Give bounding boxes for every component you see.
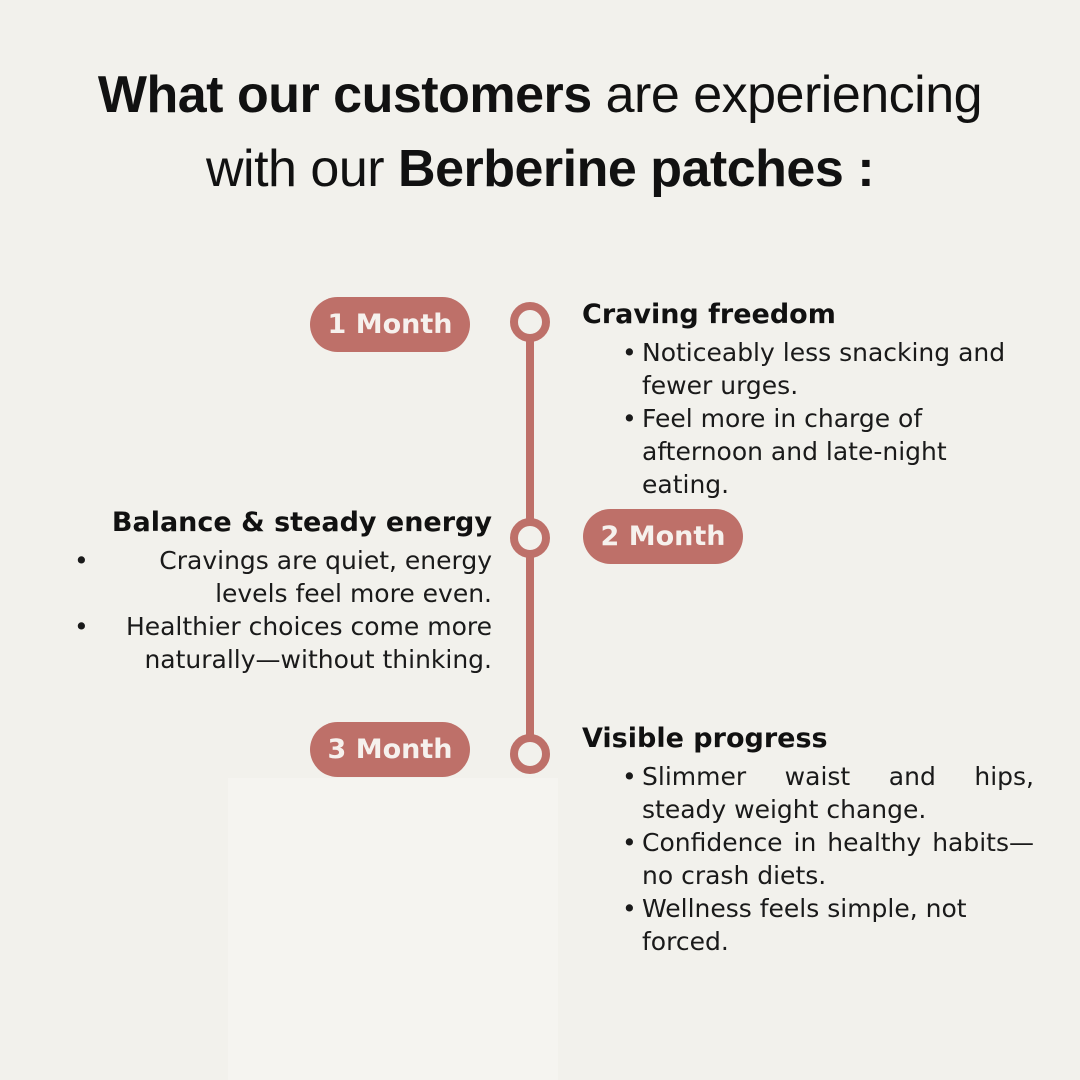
list-item: Wellness feels simple, not forced. <box>622 892 1034 958</box>
timeline-node-3-icon <box>510 734 550 774</box>
headline-strong-1: What our customers <box>98 66 592 124</box>
page-title: What our customers are experiencing with… <box>0 58 1080 206</box>
milestone-pill-3-month[interactable]: 3 Month <box>310 722 470 777</box>
list-item: Confidence in healthy habits—no crash di… <box>622 826 1034 892</box>
milestone-content-2: Balance & steady energy Cravings are qui… <box>60 506 492 676</box>
milestone-content-1: Craving freedom Noticeably less snacking… <box>582 298 1032 501</box>
milestone-pill-2-month[interactable]: 2 Month <box>583 509 743 564</box>
headline-line-2: with our Berberine patches : <box>0 132 1080 206</box>
list-item: Feel more in charge of afternoon and lat… <box>622 402 1032 501</box>
milestone-heading-1: Craving freedom <box>582 298 1032 332</box>
list-item: Healthier choices come more naturally—wi… <box>60 610 492 676</box>
timeline-connector-1 <box>526 322 534 538</box>
milestone-content-3: Visible progress Slimmer waist and hips,… <box>582 722 1034 958</box>
timeline-connector-2 <box>526 538 534 754</box>
milestone-bullet-list-2: Cravings are quiet, energy levels feel m… <box>60 544 492 676</box>
background-panel <box>228 778 558 1080</box>
timeline-node-2-icon <box>510 518 550 558</box>
timeline-node-1-icon <box>510 302 550 342</box>
list-item: Noticeably less snacking and fewer urges… <box>622 336 1032 402</box>
list-item: Slimmer waist and hips, steady weight ch… <box>622 760 1034 826</box>
headline-strong-2: Berberine patches : <box>398 140 874 198</box>
milestone-bullet-list-1: Noticeably less snacking and fewer urges… <box>582 336 1032 501</box>
list-item: Cravings are quiet, energy levels feel m… <box>60 544 492 610</box>
milestone-heading-3: Visible progress <box>582 722 1034 756</box>
milestone-pill-1-month[interactable]: 1 Month <box>310 297 470 352</box>
milestone-heading-2: Balance & steady energy <box>60 506 492 540</box>
milestone-bullet-list-3: Slimmer waist and hips, steady weight ch… <box>582 760 1034 958</box>
headline-light-1: are experiencing <box>592 66 982 124</box>
headline-light-2: with our <box>206 140 398 198</box>
headline-line-1: What our customers are experiencing <box>0 58 1080 132</box>
